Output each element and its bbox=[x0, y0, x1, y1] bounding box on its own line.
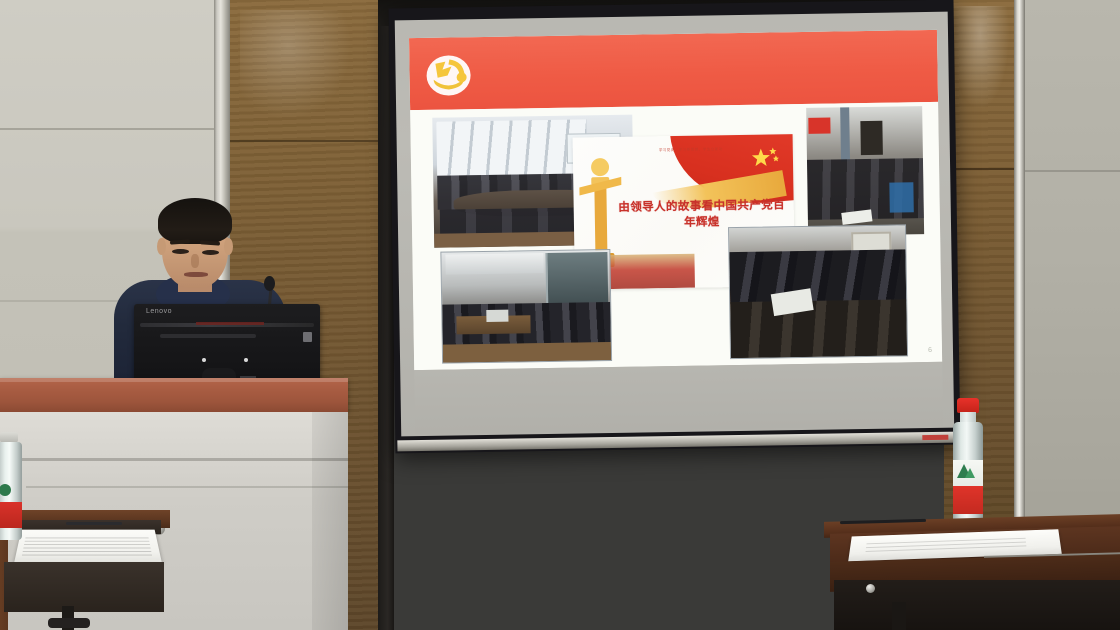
lab-paper bbox=[841, 209, 872, 225]
presenter-eye-left bbox=[172, 249, 189, 254]
ceiling-pipe bbox=[840, 107, 850, 161]
desk-left-document bbox=[14, 530, 161, 562]
lab-student-blue bbox=[889, 182, 913, 212]
wall-seam-left bbox=[0, 128, 214, 130]
china-flag-stars-icon bbox=[727, 144, 779, 173]
lecture-ceiling bbox=[445, 253, 543, 275]
lectern-right-edge bbox=[312, 412, 348, 630]
front-right-desk bbox=[824, 518, 1120, 630]
lectern-panel-seam-upper bbox=[0, 458, 348, 461]
presenter-nose bbox=[191, 254, 199, 268]
presenter-hair bbox=[158, 198, 232, 244]
monitor-vent-slot bbox=[160, 334, 256, 338]
desk-left-foot bbox=[48, 618, 90, 628]
photo-computer-lab bbox=[806, 106, 924, 236]
cover-subtitle: 学习党史、学习新思想、学生立新功 bbox=[659, 147, 723, 153]
lecture-floor bbox=[443, 342, 611, 363]
screen-bar-label bbox=[922, 435, 948, 440]
monitor-brand-label: Lenovo bbox=[146, 308, 172, 315]
wood-seam-left bbox=[230, 140, 378, 142]
bottle-right-label-bottom bbox=[953, 486, 983, 514]
front-left-desk bbox=[0, 510, 170, 630]
desk-right-leg bbox=[892, 602, 906, 630]
lecture-hall-scene: 学习党史、学习新思想、学生立新功 由领导人的故事看中国共产党百年辉煌 bbox=[0, 0, 1120, 630]
glass-partition bbox=[545, 252, 608, 309]
bottle-right-cap bbox=[957, 398, 979, 413]
microphone-icon bbox=[264, 276, 275, 291]
slide-red-banner bbox=[409, 30, 938, 110]
presenter-ear-right bbox=[224, 238, 233, 255]
bottle-mountain-logo-icon-2 bbox=[965, 468, 975, 478]
photo-lecture-room bbox=[440, 249, 612, 364]
bottle-left-label bbox=[0, 502, 22, 528]
audience-seats bbox=[730, 299, 907, 358]
monitor-screw-right bbox=[244, 358, 248, 362]
presenter-ear-left bbox=[157, 238, 166, 255]
lectern-panel-seam-lower bbox=[26, 486, 348, 488]
desk-right-knob bbox=[866, 584, 875, 593]
water-bottle-right bbox=[951, 398, 985, 530]
wood-glare-left bbox=[240, 10, 360, 130]
wall-flag bbox=[808, 118, 830, 134]
wood-glare-right bbox=[948, 6, 1012, 116]
projection-surface: 学习党史、学习新思想、学生立新功 由领导人的故事看中国共产党百年辉煌 bbox=[395, 12, 954, 437]
presentation-slide: 学习党史、学习新思想、学生立新功 由领导人的故事看中国共产党百年辉煌 bbox=[409, 30, 942, 370]
desk-left-document-text bbox=[22, 538, 152, 557]
cpc-emblem-icon bbox=[423, 49, 474, 98]
slide-page-number: 6 bbox=[928, 347, 932, 354]
lectern-top bbox=[0, 378, 348, 412]
slide-photo-collage: 学习党史、学习新思想、学生立新功 由领导人的故事看中国共产党百年辉煌 bbox=[410, 102, 942, 370]
desk-right-document-text bbox=[865, 538, 1026, 555]
desk-left-pen bbox=[66, 522, 122, 525]
photo-seated-audience bbox=[728, 224, 908, 359]
lectern-top-highlight bbox=[0, 378, 348, 382]
lecture-laptop bbox=[486, 310, 508, 322]
monitor-screen-glow bbox=[196, 322, 264, 325]
presenter-eye-right bbox=[202, 250, 219, 255]
projection-lower-area bbox=[414, 362, 943, 434]
water-bottle-left bbox=[0, 432, 24, 540]
presenter-mouth bbox=[184, 272, 208, 277]
desk-left-front-panel bbox=[4, 562, 164, 612]
monitor-power-led[interactable] bbox=[303, 332, 312, 342]
window-wall bbox=[436, 119, 587, 175]
monitor-screw-left bbox=[202, 358, 206, 362]
projector-screen: 学习党史、学习新思想、学生立新功 由领导人的故事看中国共产党百年辉煌 bbox=[389, 0, 961, 453]
desk-right-under-shadow bbox=[834, 580, 1120, 630]
wall-seam-right bbox=[1025, 170, 1120, 172]
lab-door bbox=[860, 121, 883, 155]
audience-heads bbox=[729, 249, 906, 304]
